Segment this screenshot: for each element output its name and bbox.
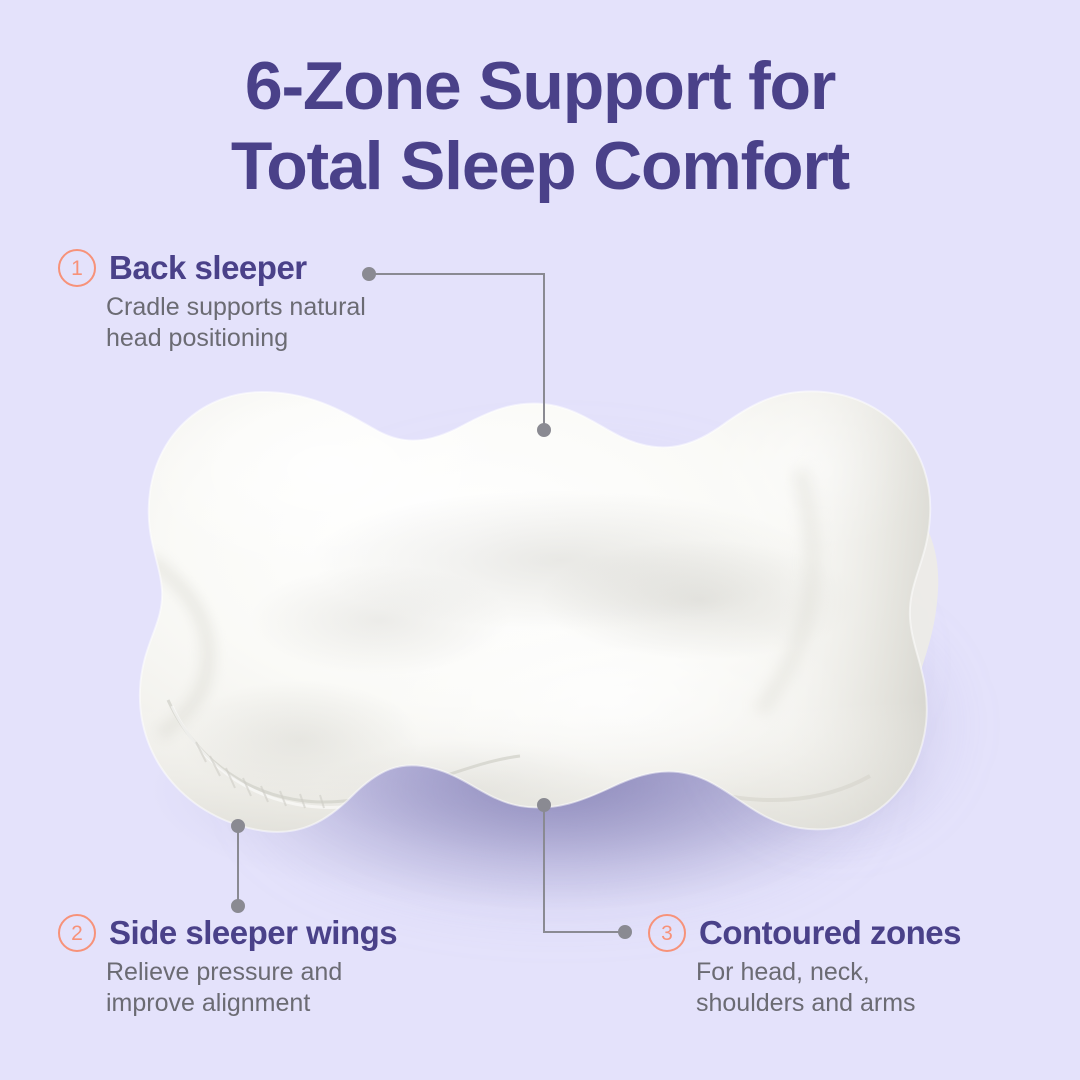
callout-title-2: Side sleeper wings: [109, 914, 397, 952]
callout-header: 1 Back sleeper: [58, 249, 366, 287]
callout-title-1: Back sleeper: [109, 249, 307, 287]
callout-title-3: Contoured zones: [699, 914, 961, 952]
callout-badge-2: 2: [58, 914, 96, 952]
page-title: 6-Zone Support for Total Sleep Comfort: [0, 46, 1080, 206]
title-line-1: 6-Zone Support for: [0, 46, 1080, 126]
callout-body-2: Relieve pressure and improve alignment: [106, 957, 397, 1020]
callout-back-sleeper: 1 Back sleeper Cradle supports natural h…: [58, 249, 366, 355]
infographic-canvas: 6-Zone Support for Total Sleep Comfort 1…: [0, 0, 1080, 1080]
callout-header: 2 Side sleeper wings: [58, 914, 397, 952]
callout-side-sleeper-wings: 2 Side sleeper wings Relieve pressure an…: [58, 914, 397, 1020]
callout-contoured-zones: 3 Contoured zones For head, neck, should…: [648, 914, 961, 1020]
callout-badge-3: 3: [648, 914, 686, 952]
callout-badge-1: 1: [58, 249, 96, 287]
callout-header: 3 Contoured zones: [648, 914, 961, 952]
callout-body-1: Cradle supports natural head positioning: [106, 292, 366, 355]
callout-body-3: For head, neck, shoulders and arms: [696, 957, 961, 1020]
title-line-2: Total Sleep Comfort: [0, 126, 1080, 206]
